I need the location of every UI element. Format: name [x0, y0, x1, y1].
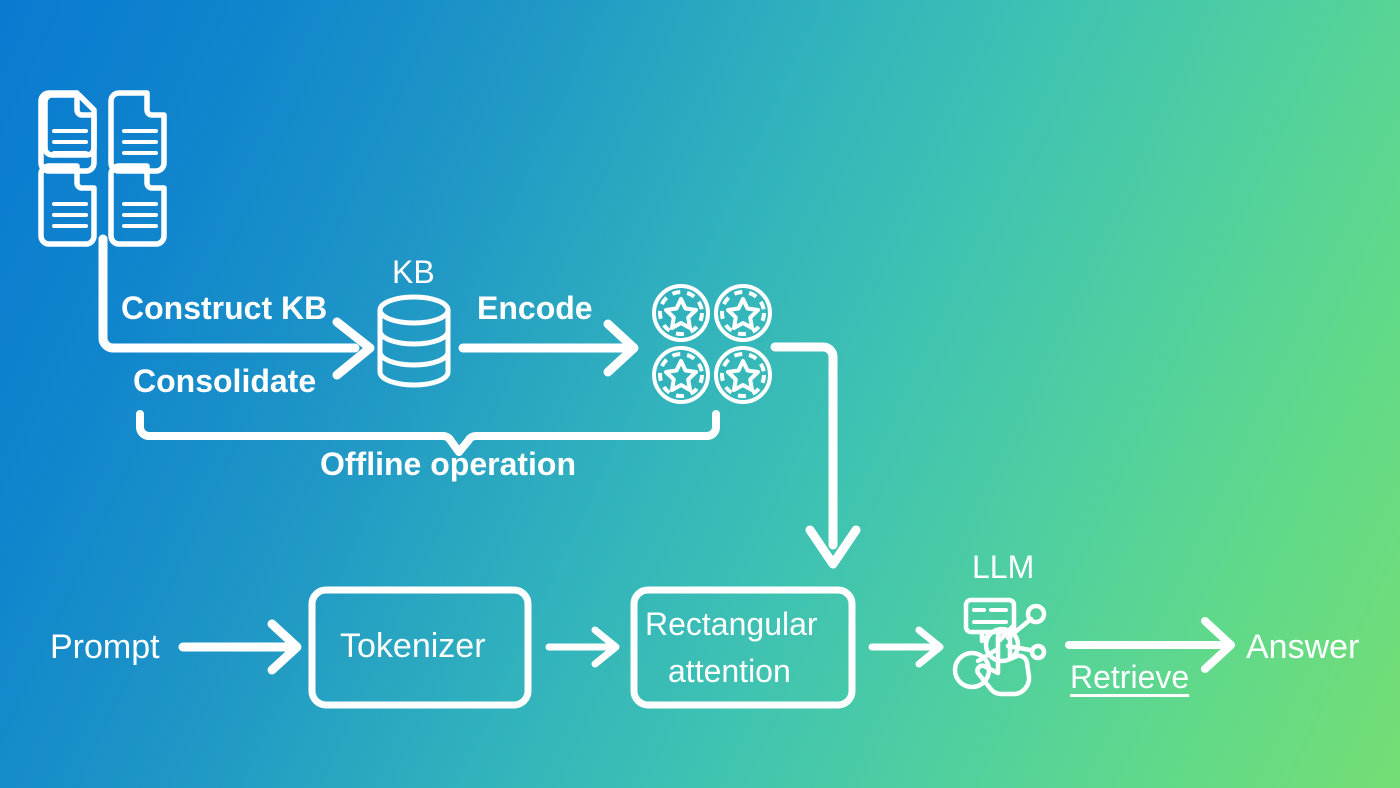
rectangular-attention-label-line2: attention: [668, 655, 791, 687]
encoded-token-group: [654, 286, 770, 402]
encoded-token-icon: [716, 286, 770, 340]
document-icon: [111, 93, 164, 171]
prompt-to-tokenizer-arrow: [183, 624, 297, 670]
encode-arrow: [463, 324, 634, 372]
encoded-token-icon: [654, 286, 708, 340]
ai-network-hand-icon: [955, 600, 1044, 694]
answer-label: Answer: [1246, 630, 1359, 664]
llm-label: LLM: [972, 551, 1034, 583]
attention-to-llm-arrow: [872, 630, 940, 664]
kb-label: KB: [392, 256, 435, 288]
document-icon: [41, 93, 94, 171]
database-cylinder-icon: [380, 297, 448, 385]
consolidate-label: Consolidate: [133, 365, 316, 397]
tokenizer-label: Tokenizer: [340, 629, 486, 663]
document-icon: [41, 166, 94, 244]
offline-operation-label: Offline operation: [320, 448, 576, 480]
encode-label: Encode: [477, 292, 593, 324]
documents-group: [41, 93, 164, 244]
document-icon: [111, 166, 164, 244]
retrieve-label: Retrieve: [1070, 661, 1189, 693]
encoded-token-icon: [654, 348, 708, 402]
rectangular-attention-label-line1: Rectangular: [645, 608, 818, 640]
tokenizer-to-attention-arrow: [549, 630, 616, 664]
diagram-canvas: Construct KB Consolidate KB Encode Offli…: [0, 0, 1400, 788]
tokens-to-attention-arrow: [775, 347, 856, 564]
construct-kb-label: Construct KB: [121, 292, 327, 324]
encoded-token-icon: [716, 348, 770, 402]
prompt-label: Prompt: [50, 630, 160, 664]
